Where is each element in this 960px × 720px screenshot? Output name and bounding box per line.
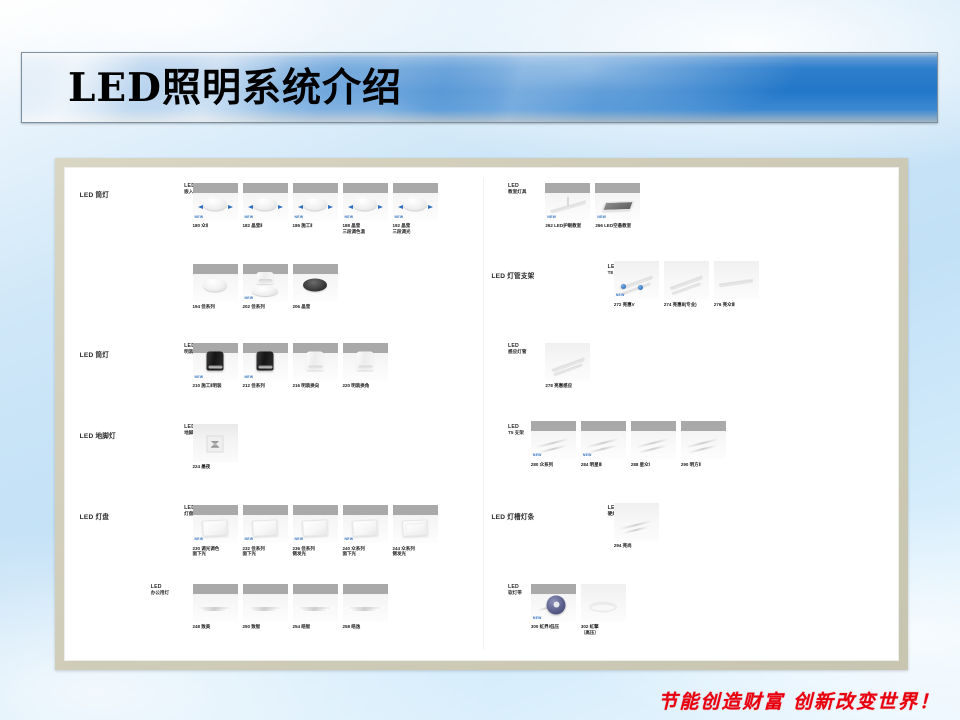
catalog-product-row: NEW300 虹界Ⅰ低压302 虹擎 （高压） — [531, 584, 626, 636]
catalog-product-row: 224 墨夜 — [193, 424, 238, 470]
catalog-product-row: NEW180 众ⅡNEW182 晶莹ⅡNEW186 施工ⅡNEW188 晶莹 三… — [193, 183, 438, 235]
catalog-product-item[interactable]: NEW272 亮惠V — [614, 261, 659, 307]
product-thumbnail-panel-edge-icon — [393, 505, 438, 543]
catalog-subgroup-title: LEDT5 支架 — [508, 424, 524, 436]
catalog-product-row: 294 亮尚 — [614, 503, 659, 549]
new-badge: NEW — [295, 215, 304, 219]
product-label: 240 众系列 面下光 — [343, 546, 388, 557]
catalog-product-item[interactable]: NEW266 LED空悬教室 — [595, 183, 640, 229]
product-label: 212 佳系列 — [243, 383, 288, 389]
new-badge: NEW — [245, 375, 254, 379]
product-thumbnail-panel-icon: NEW — [343, 505, 388, 543]
catalog-product-item[interactable]: NEW188 晶莹 三段调色温 — [343, 183, 388, 235]
product-thumbnail-strip-rigid-icon — [614, 503, 659, 541]
new-badge: NEW — [295, 537, 304, 541]
product-thumbnail-reel-icon: NEW — [531, 584, 576, 622]
product-label: 194 佳系列 — [193, 304, 238, 310]
product-label: 182 晶莹Ⅱ — [243, 223, 288, 229]
product-thumbnail-tube-pair-icon — [664, 261, 709, 299]
product-label: 274 亮惠Ⅲ(专业) — [664, 302, 709, 308]
catalog-product-item[interactable]: NEW230 调光调色 面下光 — [193, 505, 238, 557]
product-label: 220 明装换角 — [343, 383, 388, 389]
catalog-product-item[interactable]: NEW192 晶莹 三段调光 — [393, 183, 438, 235]
product-label: 272 亮惠V — [614, 302, 659, 308]
product-thumbnail-downlight-dark-icon — [293, 264, 338, 302]
product-thumbnail-downlight-round-icon: NEW — [343, 183, 388, 221]
catalog-group-title: LED 筒灯 — [80, 189, 109, 199]
catalog-group-title: LED 地脚灯 — [80, 430, 116, 440]
product-label: 254 皓智 — [293, 624, 338, 630]
catalog-product-item[interactable]: 250 致智 — [243, 584, 288, 630]
product-thumbnail-downlight-round-icon: NEW — [243, 183, 288, 221]
product-label: 186 施工Ⅱ — [293, 223, 338, 229]
catalog-product-item[interactable]: NEW280 众系列 — [531, 421, 576, 467]
catalog-product-row: NEW280 众系列NEW284 明星Ⅲ288 星众Ⅰ290 明方Ⅱ — [531, 421, 726, 467]
new-badge: NEW — [597, 215, 606, 219]
catalog-group-title: LED 筒灯 — [80, 349, 109, 359]
catalog-right-column: LED教室灯具NEW262 LED护眼教室NEW266 LED空悬教室LED 灯… — [483, 168, 898, 660]
product-label: 290 明方Ⅱ — [681, 462, 726, 468]
new-badge: NEW — [195, 537, 204, 541]
new-badge: NEW — [345, 537, 354, 541]
product-label: 294 亮尚 — [614, 543, 659, 549]
catalog-product-row: NEW272 亮惠V274 亮惠Ⅲ(专业)276 亮众Ⅲ — [614, 261, 759, 307]
new-badge: NEW — [616, 293, 625, 297]
catalog-product-item[interactable]: 220 明装换角 — [343, 343, 388, 389]
product-thumbnail-ring-coil-icon — [581, 584, 626, 622]
new-badge: NEW — [583, 453, 592, 457]
product-label: 250 致智 — [243, 624, 288, 630]
catalog-product-row: 278 亮惠感应 — [545, 343, 590, 389]
new-badge: NEW — [533, 453, 542, 457]
catalog-product-item[interactable]: NEW186 施工Ⅱ — [293, 183, 338, 235]
catalog-product-row: NEW262 LED护眼教室NEW266 LED空悬教室 — [545, 183, 640, 229]
catalog-product-item[interactable]: 302 虹擎 （高压） — [581, 584, 626, 636]
product-label: 216 明装换向 — [293, 383, 338, 389]
catalog-group-title: LED 灯槽灯条 — [491, 511, 534, 521]
product-label: 244 众系列 侧发光 — [393, 546, 438, 557]
product-thumbnail-t5-bracket-icon: NEW — [581, 421, 626, 459]
product-label: 206 晶莹 — [293, 304, 338, 310]
product-thumbnail-flat-panel-dark-icon: NEW — [595, 183, 640, 221]
product-label: 300 虹界Ⅰ低压 — [531, 624, 576, 630]
product-thumbnail-downlight-round-icon: NEW — [293, 183, 338, 221]
product-label: 302 虹擎 （高压） — [581, 624, 626, 635]
catalog-group-title: LED 灯盘 — [80, 511, 109, 521]
catalog-product-item[interactable]: NEW212 佳系列 — [243, 343, 288, 389]
catalog-product-item[interactable]: 294 亮尚 — [614, 503, 659, 549]
product-label: 278 亮惠感应 — [545, 383, 590, 389]
product-thumbnail-panel-icon: NEW — [243, 505, 288, 543]
catalog-product-item[interactable]: 290 明方Ⅱ — [681, 421, 726, 467]
catalog-product-item[interactable]: 288 星众Ⅰ — [631, 421, 676, 467]
product-thumbnail-downlight-round-icon: NEW — [393, 183, 438, 221]
product-thumbnail-floor-lamp-icon — [193, 424, 238, 462]
catalog-product-item[interactable]: 216 明装换向 — [293, 343, 338, 389]
catalog-product-row: 194 佳系列NEW202 佳系列206 晶莹 — [193, 264, 338, 310]
product-label: 180 众Ⅱ — [193, 223, 238, 229]
new-badge: NEW — [245, 537, 254, 541]
catalog-product-item[interactable]: 258 皓逸 — [343, 584, 388, 630]
new-badge: NEW — [547, 215, 556, 219]
product-label: 248 致美 — [193, 624, 238, 630]
new-badge: NEW — [245, 296, 254, 300]
catalog-product-row: 248 致美250 致智254 皓智258 皓逸 — [193, 584, 388, 630]
product-thumbnail-panel-icon: NEW — [193, 505, 238, 543]
product-thumbnail-office-icon — [193, 584, 238, 622]
catalog-product-item[interactable]: 248 致美 — [193, 584, 238, 630]
product-thumbnail-cylinder-white-icon — [293, 343, 338, 381]
catalog-product-item[interactable]: 278 亮惠感应 — [545, 343, 590, 389]
new-badge: NEW — [395, 215, 404, 219]
product-label: 192 晶莹 三段调光 — [393, 223, 438, 234]
product-thumbnail-office-icon — [343, 584, 388, 622]
catalog-product-item[interactable]: NEW180 众Ⅱ — [193, 183, 238, 235]
catalog-subgroup-title: LED软灯带 — [508, 584, 522, 596]
catalog-product-item[interactable]: 254 皓智 — [293, 584, 338, 630]
catalog-subgroup-title: LED教室灯具 — [508, 183, 526, 195]
catalog-product-item[interactable]: 276 亮众Ⅲ — [714, 261, 759, 307]
catalog-product-item[interactable]: 206 晶莹 — [293, 264, 338, 310]
catalog-product-item[interactable]: NEW236 佳系列 侧发光 — [293, 505, 338, 557]
product-thumbnail-t5-bracket-icon — [631, 421, 676, 459]
page-title: LED照明系统介绍 — [22, 53, 937, 123]
catalog-frame: LED 筒灯LED嵌入式筒灯NEW180 众ⅡNEW182 晶莹ⅡNEW186 … — [55, 158, 908, 670]
product-label: 210 施工Ⅱ明装 — [193, 383, 238, 389]
product-label: 188 晶莹 三段调色温 — [343, 223, 388, 234]
product-thumbnail-tube-pair-icon — [545, 343, 590, 381]
product-label: 224 墨夜 — [193, 464, 238, 470]
product-thumbnail-panel-icon: NEW — [293, 505, 338, 543]
product-thumbnail-cylinder-dark-icon: NEW — [243, 343, 288, 381]
catalog-group-title: LED 灯管支架 — [491, 270, 534, 280]
catalog-product-item[interactable]: NEW182 晶莹Ⅱ — [243, 183, 288, 235]
product-label: 266 LED空悬教室 — [595, 223, 640, 229]
product-label: 236 佳系列 侧发光 — [293, 546, 338, 557]
new-badge: NEW — [245, 215, 254, 219]
product-thumbnail-office-icon — [293, 584, 338, 622]
product-thumbnail-linear-pendant-icon: NEW — [545, 183, 590, 221]
product-label: 276 亮众Ⅲ — [714, 302, 759, 308]
product-thumbnail-downlight-round-icon: NEW — [193, 183, 238, 221]
new-badge: NEW — [195, 215, 204, 219]
product-label: 230 调光调色 面下光 — [193, 546, 238, 557]
product-thumbnail-cylinder-white-icon — [343, 343, 388, 381]
product-thumbnail-downlight-cup-icon: NEW — [243, 264, 288, 302]
product-thumbnail-downlight-reflector-icon — [193, 264, 238, 302]
new-badge: NEW — [345, 215, 354, 219]
catalog-product-item[interactable]: NEW284 明星Ⅲ — [581, 421, 626, 467]
product-label: 262 LED护眼教室 — [545, 223, 590, 229]
product-thumbnail-tube-caps-icon: NEW — [614, 261, 659, 299]
product-label: 280 众系列 — [531, 462, 576, 468]
product-label: 288 星众Ⅰ — [631, 462, 676, 468]
catalog-product-item[interactable]: NEW262 LED护眼教室 — [545, 183, 590, 229]
catalog-product-row: NEW230 调光调色 面下光NEW232 佳系列 面下光NEW236 佳系列 … — [193, 505, 438, 557]
product-label: 258 皓逸 — [343, 624, 388, 630]
footer-slogan: 节能创造财富 创新改变世界！ — [0, 687, 960, 714]
catalog-subgroup-title: LED办公用灯 — [151, 584, 169, 596]
product-thumbnail-t5-bracket-icon: NEW — [531, 421, 576, 459]
product-thumbnail-tube-single-icon — [714, 261, 759, 299]
catalog-product-item[interactable]: NEW210 施工Ⅱ明装 — [193, 343, 238, 389]
catalog-product-item[interactable]: 274 亮惠Ⅲ(专业) — [664, 261, 709, 307]
catalog-product-item[interactable]: NEW240 众系列 面下光 — [343, 505, 388, 557]
new-badge: NEW — [533, 616, 542, 620]
catalog-product-item[interactable]: NEW300 虹界Ⅰ低压 — [531, 584, 576, 636]
product-label: 202 佳系列 — [243, 304, 288, 310]
product-thumbnail-t5-bracket-icon — [681, 421, 726, 459]
catalog-product-item[interactable]: NEW232 佳系列 面下光 — [243, 505, 288, 557]
product-label: 284 明星Ⅲ — [581, 462, 626, 468]
catalog-subgroup-title: LED感应灯管 — [508, 343, 526, 355]
product-thumbnail-cylinder-dark-icon: NEW — [193, 343, 238, 381]
slide-title-banner: LED照明系统介绍 — [21, 52, 938, 123]
product-thumbnail-office-icon — [243, 584, 288, 622]
product-label: 232 佳系列 面下光 — [243, 546, 288, 557]
catalog-product-row: NEW210 施工Ⅱ明装NEW212 佳系列216 明装换向220 明装换角 — [193, 343, 388, 389]
catalog-product-item[interactable]: NEW202 佳系列 — [243, 264, 288, 310]
catalog-left-column: LED 筒灯LED嵌入式筒灯NEW180 众ⅡNEW182 晶莹ⅡNEW186 … — [65, 168, 483, 660]
catalog-page: LED 筒灯LED嵌入式筒灯NEW180 众ⅡNEW182 晶莹ⅡNEW186 … — [64, 167, 899, 661]
new-badge: NEW — [195, 375, 204, 379]
catalog-product-item[interactable]: 194 佳系列 — [193, 264, 238, 310]
catalog-product-item[interactable]: 224 墨夜 — [193, 424, 238, 470]
catalog-product-item[interactable]: 244 众系列 侧发光 — [393, 505, 438, 557]
